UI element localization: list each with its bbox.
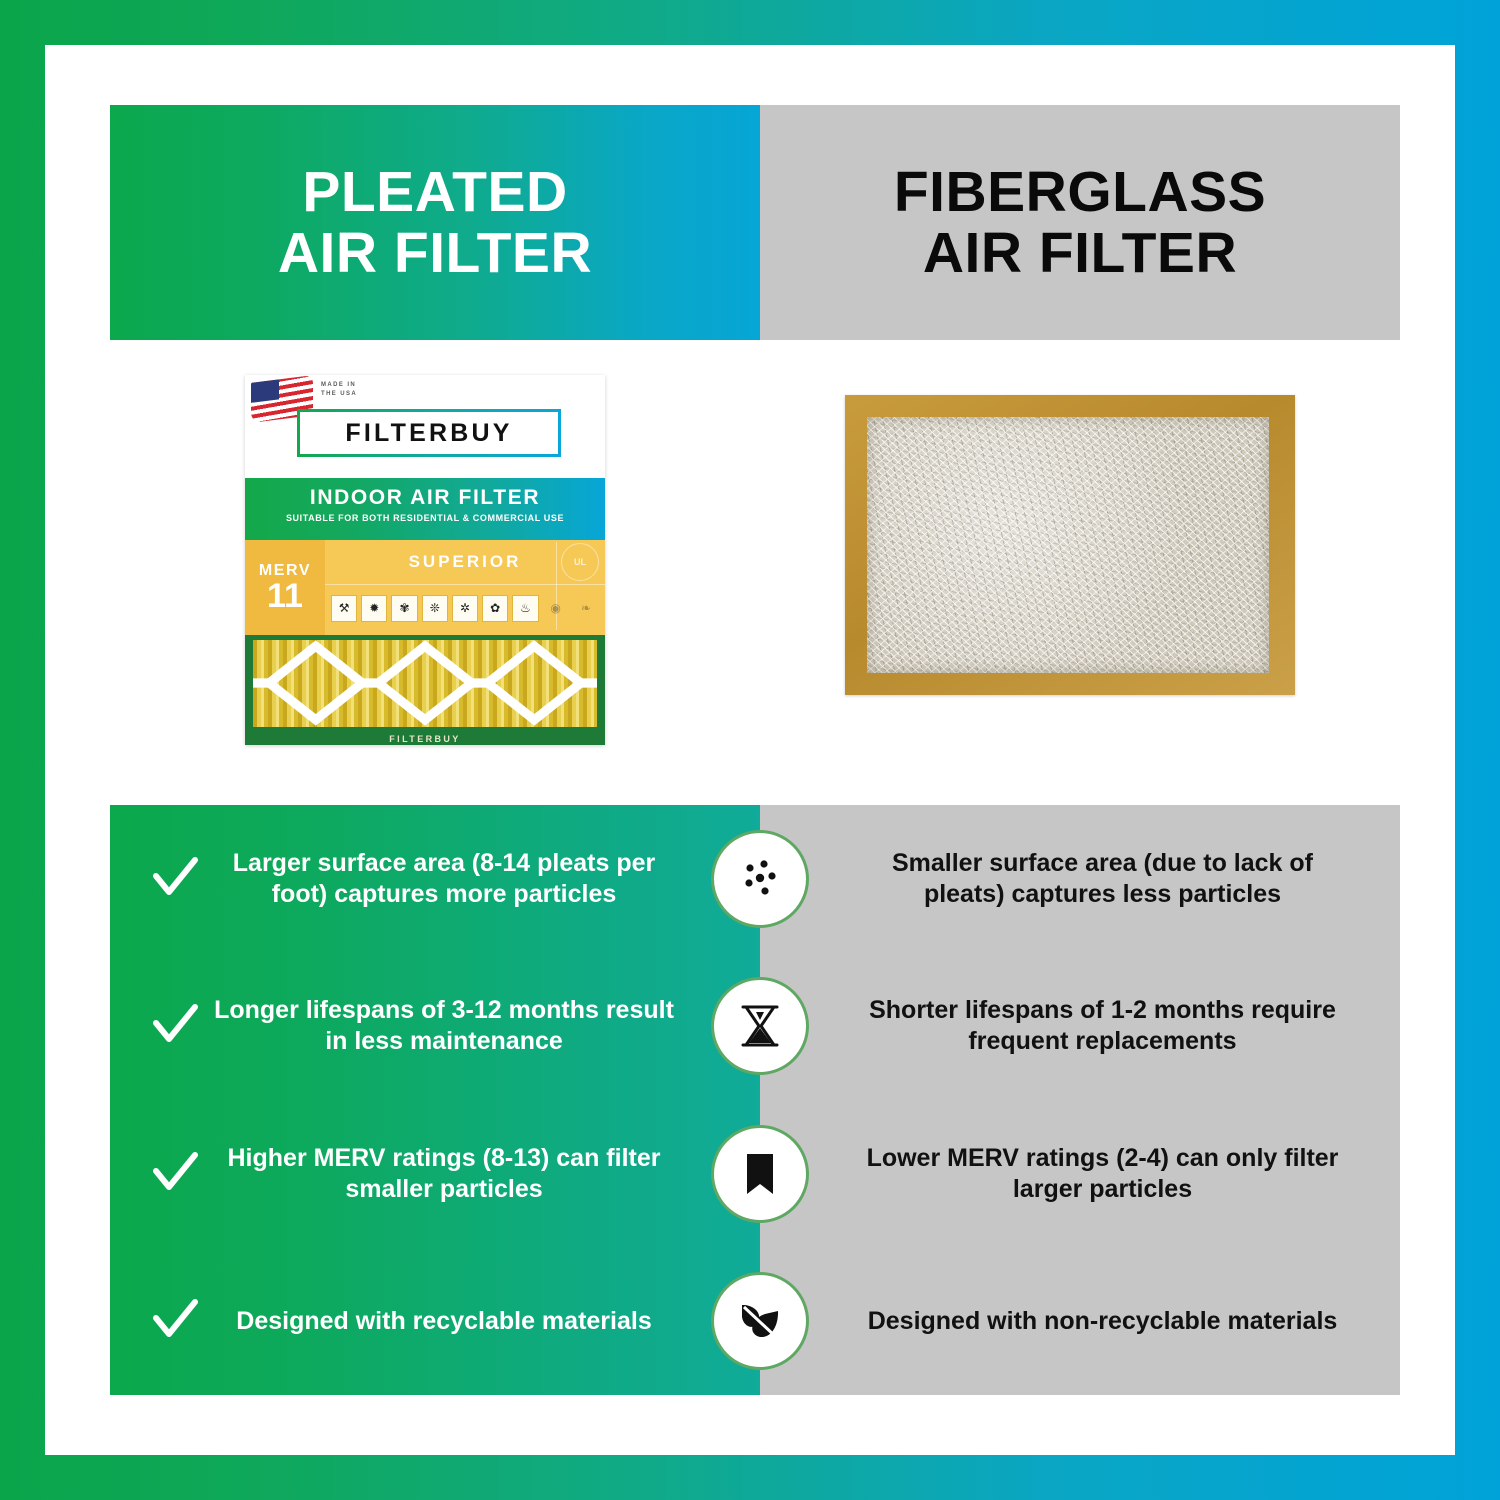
pollen-icon: ✾ xyxy=(391,595,417,622)
pleated-media-area: FILTERBUY xyxy=(245,635,605,745)
row-right-fiberglass: Lower MERV ratings (2-4) can only filter… xyxy=(760,1100,1400,1248)
comparison-row: Longer lifespans of 3-12 months result i… xyxy=(110,953,1400,1101)
lattice-svg xyxy=(253,640,597,727)
comparison-table: Larger surface area (8-14 pleats per foo… xyxy=(110,805,1400,1395)
merv-badge: MERV 11 xyxy=(245,540,325,635)
product-label-band: INDOOR AIR FILTER SUITABLE FOR BOTH RESI… xyxy=(245,478,605,540)
bacteria-icon: ✲ xyxy=(452,595,478,622)
lint-icon: ❧ xyxy=(573,595,599,622)
pet-dander-icon: ✿ xyxy=(482,595,508,622)
smoke-icon: ♨ xyxy=(512,595,538,622)
header-pleated-title: PLEATED AIR FILTER xyxy=(278,162,592,284)
check-icon xyxy=(144,1001,206,1051)
check-icon xyxy=(144,1296,206,1346)
product-cell-pleated: MADE IN THE USA FILTERBUY INDOOR AIR FIL… xyxy=(110,340,760,780)
band-subtitle-text: SUITABLE FOR BOTH RESIDENTIAL & COMMERCI… xyxy=(245,513,605,523)
header-fiberglass-title: FIBERGLASS AIR FILTER xyxy=(894,162,1266,284)
header-fiberglass: FIBERGLASS AIR FILTER xyxy=(760,105,1400,340)
made-in-usa-text: MADE IN THE USA xyxy=(321,381,357,399)
leaf-icon xyxy=(711,1272,809,1370)
insect-icon: ✹ xyxy=(361,595,387,622)
row-right-fiberglass: Designed with non-recyclable materials xyxy=(760,1248,1400,1396)
row-left-pleated: Longer lifespans of 3-12 months result i… xyxy=(110,953,760,1101)
header-row: PLEATED AIR FILTER FIBERGLASS AIR FILTER xyxy=(110,105,1400,340)
ul-certification-icon: UL xyxy=(561,543,599,581)
feature-icon-row: ⚒ ✹ ✾ ❊ ✲ ✿ ♨ ◉ ❧ xyxy=(331,588,599,628)
comparison-row: Designed with recyclable materials De xyxy=(110,1248,1400,1396)
dust-icon: ⚒ xyxy=(331,595,357,622)
row-right-text: Designed with non-recyclable materials xyxy=(868,1306,1338,1337)
mold-icon: ❊ xyxy=(422,595,448,622)
white-lattice-support xyxy=(253,640,597,727)
tier-label: SUPERIOR xyxy=(409,552,522,572)
merv-value: 11 xyxy=(267,580,303,612)
infographic-body: PLEATED AIR FILTER FIBERGLASS AIR FILTER… xyxy=(110,105,1400,1395)
row-right-text: Smaller surface area (due to lack of ple… xyxy=(860,848,1345,911)
header-pleated: PLEATED AIR FILTER xyxy=(110,105,760,340)
virus-icon: ◉ xyxy=(543,595,569,622)
check-icon xyxy=(144,854,206,904)
row-left-pleated: Larger surface area (8-14 pleats per foo… xyxy=(110,805,760,953)
page-canvas: PLEATED AIR FILTER FIBERGLASS AIR FILTER… xyxy=(45,45,1455,1455)
filterbuy-logo-text: FILTERBUY xyxy=(345,419,512,448)
row-right-text: Shorter lifespans of 1-2 months require … xyxy=(860,995,1345,1058)
filter-footer-brand: FILTERBUY xyxy=(245,734,605,744)
product-cell-fiberglass xyxy=(760,340,1400,780)
row-left-pleated: Designed with recyclable materials xyxy=(110,1248,760,1396)
product-image-row: MADE IN THE USA FILTERBUY INDOOR AIR FIL… xyxy=(110,340,1400,780)
row-left-text: Designed with recyclable materials xyxy=(206,1306,682,1337)
row-left-pleated: Higher MERV ratings (8-13) can filter sm… xyxy=(110,1100,760,1248)
merv-strip: MERV 11 SUPERIOR UL ⚒ ✹ ✾ xyxy=(245,540,605,635)
indoor-air-filter-text: INDOOR AIR FILTER xyxy=(245,484,605,512)
fiberglass-filter-product-image xyxy=(845,395,1295,695)
row-right-fiberglass: Shorter lifespans of 1-2 months require … xyxy=(760,953,1400,1101)
comparison-row: Larger surface area (8-14 pleats per foo… xyxy=(110,805,1400,953)
outer-gradient-border: PLEATED AIR FILTER FIBERGLASS AIR FILTER… xyxy=(0,0,1500,1500)
row-right-fiberglass: Smaller surface area (due to lack of ple… xyxy=(760,805,1400,953)
hourglass-icon xyxy=(711,977,809,1075)
filterbuy-logo: FILTERBUY xyxy=(297,409,561,457)
row-left-text: Longer lifespans of 3-12 months result i… xyxy=(206,995,682,1058)
particles-icon xyxy=(711,830,809,928)
pleated-filter-product-image: MADE IN THE USA FILTERBUY INDOOR AIR FIL… xyxy=(245,375,605,745)
row-left-text: Larger surface area (8-14 pleats per foo… xyxy=(206,848,682,911)
row-left-text: Higher MERV ratings (8-13) can filter sm… xyxy=(206,1143,682,1206)
product-label-top: MADE IN THE USA FILTERBUY xyxy=(245,375,605,478)
row-right-text: Lower MERV ratings (2-4) can only filter… xyxy=(860,1143,1345,1206)
fiberglass-mesh xyxy=(867,417,1269,673)
comparison-row: Higher MERV ratings (8-13) can filter sm… xyxy=(110,1100,1400,1248)
bookmark-icon xyxy=(711,1125,809,1223)
check-icon xyxy=(144,1149,206,1199)
